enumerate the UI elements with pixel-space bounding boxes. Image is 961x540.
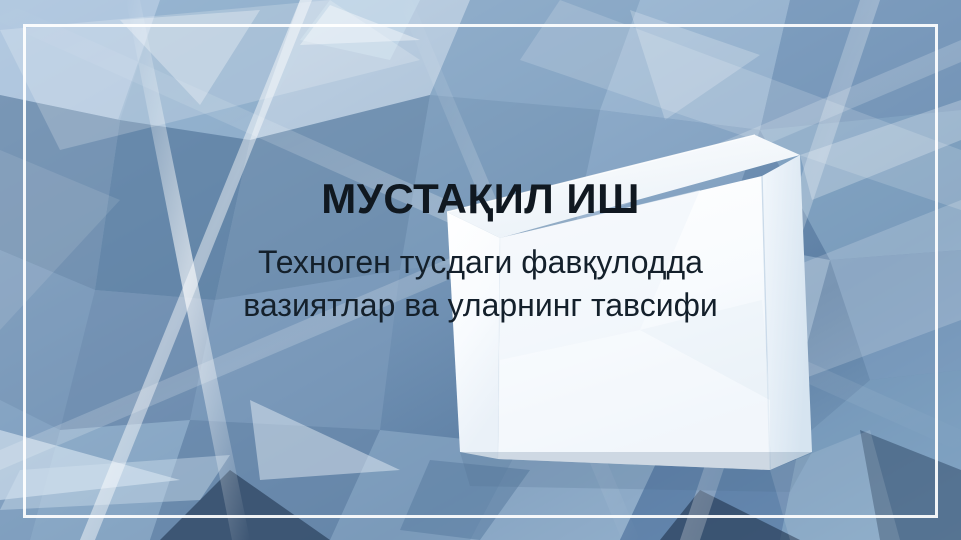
presentation-slide: МУСТАҚИЛ ИШ Техноген тусдаги фавқулодда … xyxy=(0,0,961,540)
page-title: МУСТАҚИЛ ИШ xyxy=(0,175,961,223)
slide-subtitle: Техноген тусдаги фавқулодда вазиятлар ва… xyxy=(181,241,781,325)
slide-text-block: МУСТАҚИЛ ИШ Техноген тусдаги фавқулодда … xyxy=(0,175,961,326)
